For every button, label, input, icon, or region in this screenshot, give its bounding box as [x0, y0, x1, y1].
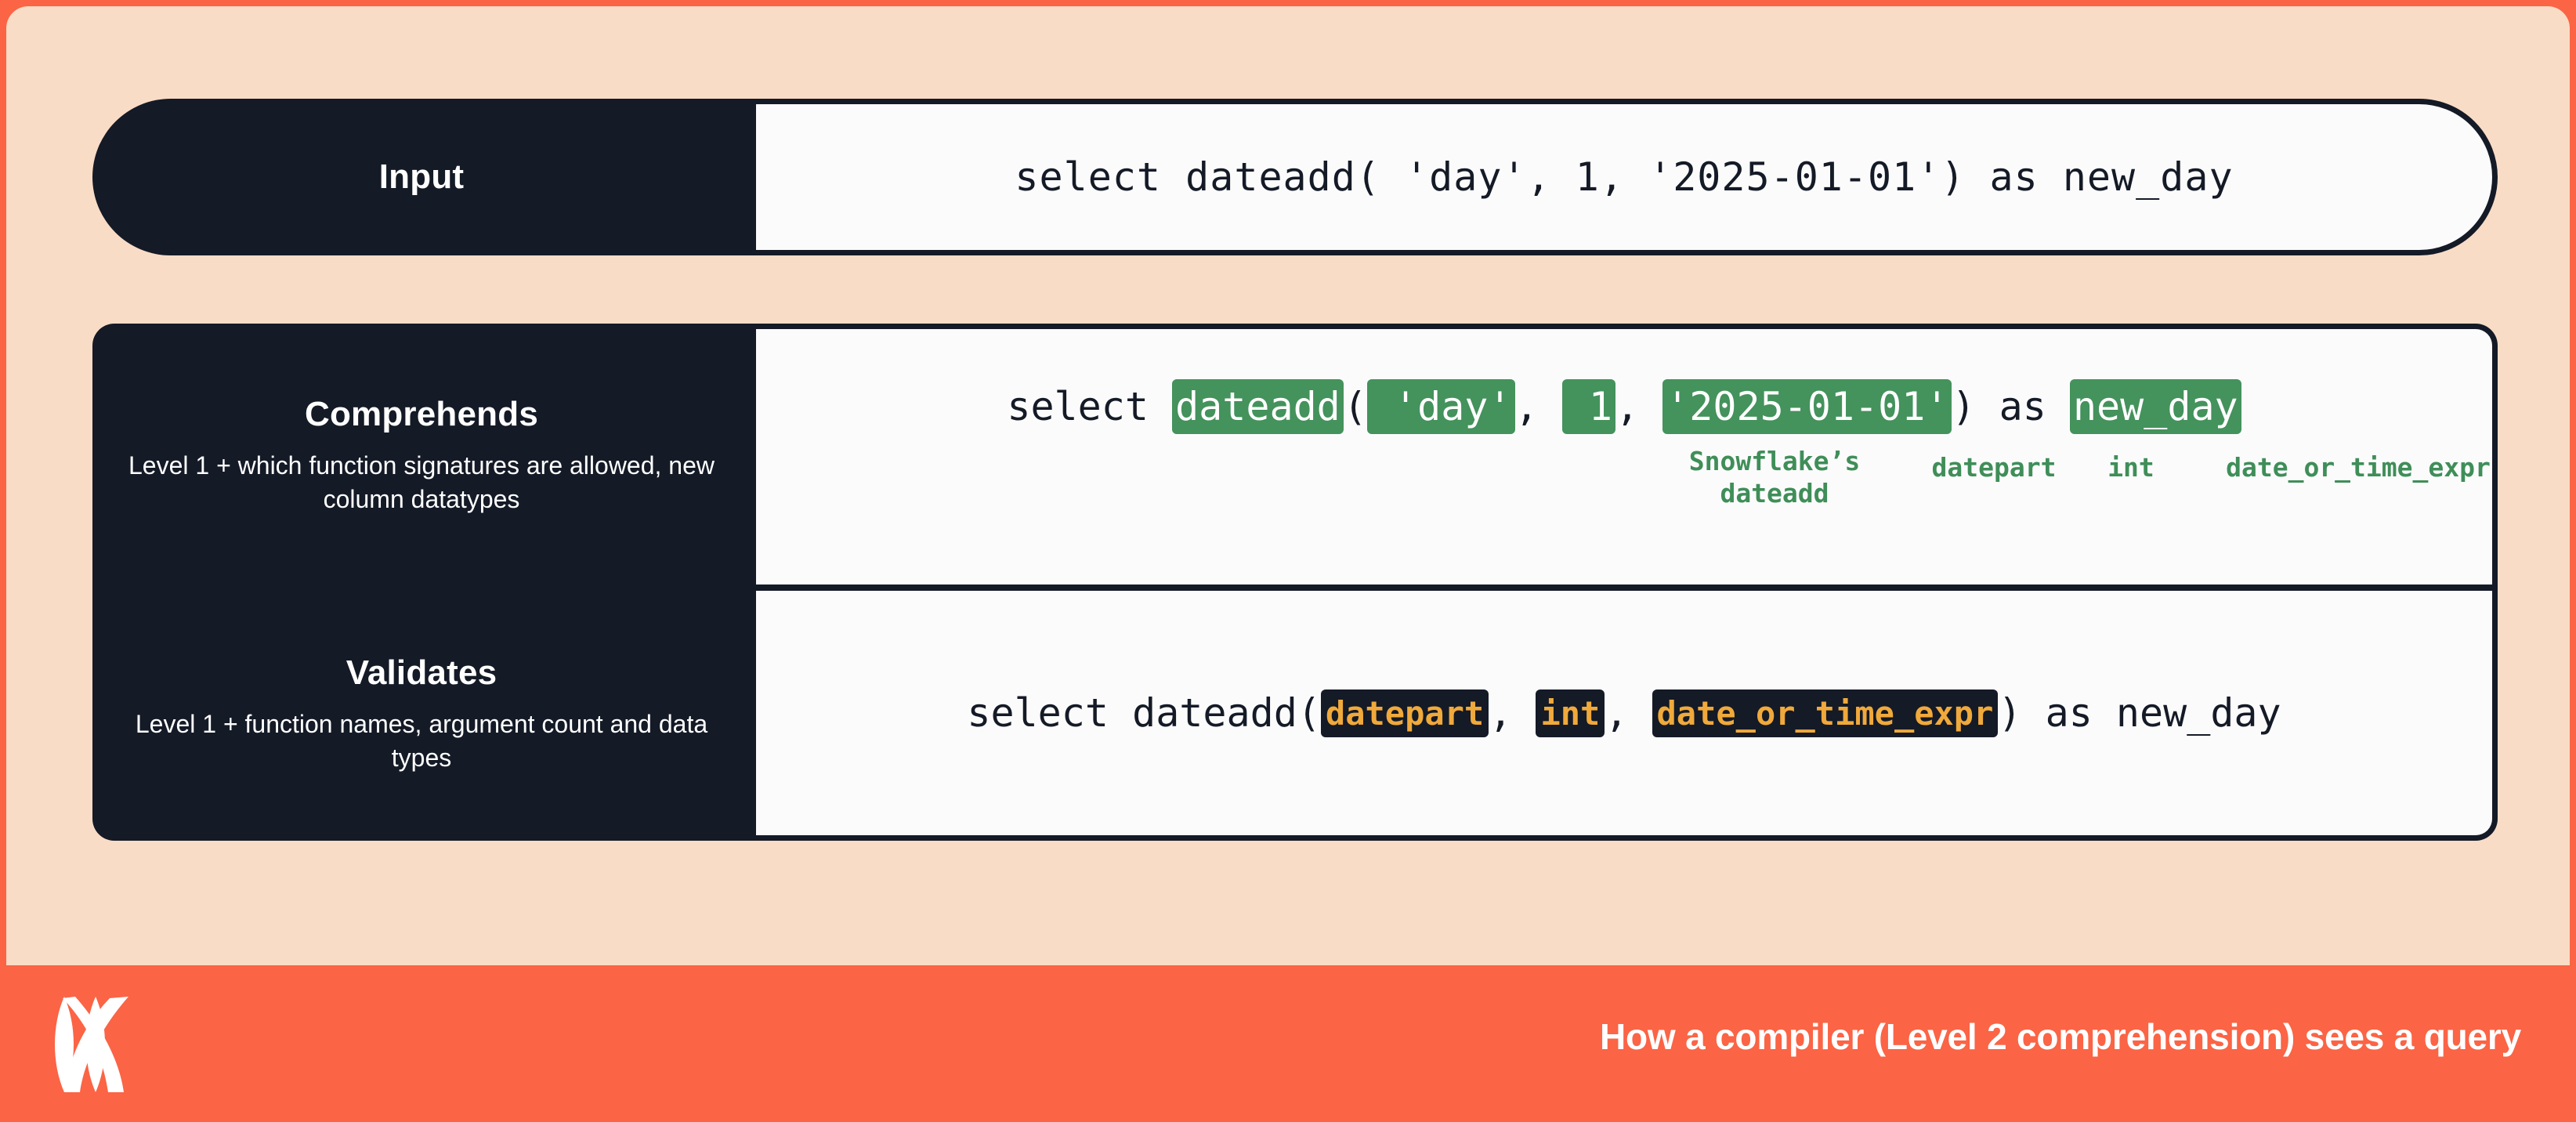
comprehends-code-pane: select dateadd( 'day', 1, '2025-01-01') … — [751, 324, 2498, 588]
input-code-pane: select dateadd( 'day', 1, '2025-01-01') … — [751, 99, 2498, 255]
input-card: Input select dateadd( 'day', 1, '2025-01… — [92, 99, 2498, 255]
comprehends-token-0: select — [1007, 384, 1172, 429]
comprehends-token-8: ) — [1952, 384, 1975, 429]
poster-frame: Input select dateadd( 'day', 1, '2025-01… — [0, 0, 2576, 1122]
comprehends-annotation-row: Snowflake’s dateadddatepartintdate_or_ti… — [756, 445, 2492, 531]
comprehends-token-3: 'day' — [1367, 379, 1515, 434]
validates-token-5: date_or_time_expr — [1652, 689, 1999, 737]
comprehends-token-7: '2025-01-01' — [1662, 379, 1952, 434]
validates-token-2: , — [1489, 690, 1536, 736]
comprehends-token-5: 1 — [1562, 379, 1615, 434]
validates-token-6: ) as new_day — [1998, 690, 2281, 736]
comprehends-description: Level 1 + which function signatures are … — [124, 449, 719, 516]
validates-code: select dateadd(datepart, int, date_or_ti… — [756, 689, 2492, 737]
comprehends-row: Comprehends Level 1 + which function sig… — [92, 324, 2498, 588]
poster-canvas: Input select dateadd( 'day', 1, '2025-01… — [6, 6, 2570, 965]
validates-code-pane: select dateadd(datepart, int, date_or_ti… — [751, 588, 2498, 841]
validates-row: Validates Level 1 + function names, argu… — [92, 588, 2498, 841]
comprehends-label-pane: Comprehends Level 1 + which function sig… — [92, 324, 751, 588]
comprehends-annotation-2: int — [2088, 451, 2174, 483]
comprehends-label: Comprehends — [305, 395, 538, 435]
validates-label: Validates — [346, 653, 497, 693]
comprehends-annotation-0: Snowflake’s dateadd — [1657, 445, 1892, 510]
comprehends-code: select dateadd( 'day', 1, '2025-01-01') … — [756, 379, 2492, 434]
x-mark-logo-icon — [47, 994, 141, 1095]
validates-token-0: select dateadd( — [967, 690, 1321, 736]
comprehends-annotation-4: A date/timestamp/ time column — [2534, 445, 2576, 510]
validates-token-1: datepart — [1321, 689, 1489, 737]
validates-description: Level 1 + function names, argument count… — [124, 708, 719, 775]
comprehends-annotation-3: date_or_time_expr — [2182, 451, 2534, 483]
validates-label-pane: Validates Level 1 + function names, argu… — [92, 588, 751, 841]
comprehends-token-4: , — [1515, 384, 1562, 429]
levels-card: Comprehends Level 1 + which function sig… — [92, 324, 2498, 841]
validates-token-4: , — [1605, 690, 1652, 736]
comprehends-annotation-1: datepart — [1908, 451, 2080, 483]
validates-token-3: int — [1536, 689, 1605, 737]
input-code: select dateadd( 'day', 1, '2025-01-01') … — [1015, 154, 2233, 200]
comprehends-token-2: ( — [1344, 384, 1367, 429]
comprehends-token-9: as — [1976, 384, 2070, 429]
comprehends-token-1: dateadd — [1172, 379, 1344, 434]
footer-caption: How a compiler (Level 2 comprehension) s… — [1600, 1015, 2521, 1058]
comprehends-token-6: , — [1615, 384, 1662, 429]
input-label: Input — [379, 157, 465, 197]
input-label-pane: Input — [92, 99, 751, 255]
comprehends-token-10: new_day — [2070, 379, 2241, 434]
